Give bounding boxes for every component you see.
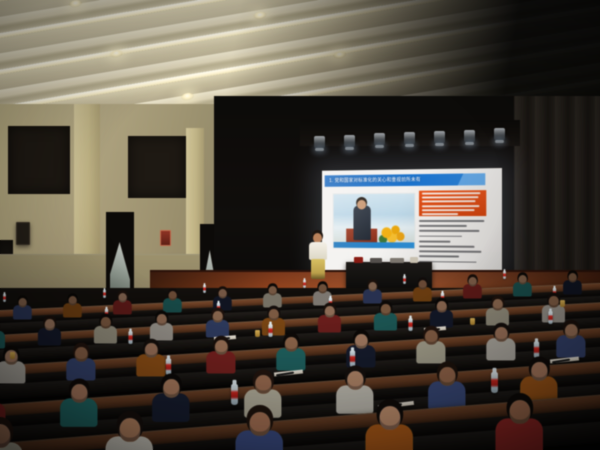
audience-torso — [0, 331, 5, 349]
audience-head — [71, 384, 88, 403]
table-object — [390, 258, 404, 263]
stage-spotlight — [464, 130, 475, 143]
conference-hall-photo: 1. 党和国家对标准化的关心和重视前所未有 — [0, 0, 600, 450]
presenter-torso — [309, 242, 327, 260]
table-object — [410, 257, 418, 263]
acoustic-panel — [128, 136, 186, 198]
stage-spotlight — [314, 136, 325, 149]
stage-spotlight — [404, 132, 415, 145]
audience-head — [439, 367, 456, 386]
body-text-line — [419, 240, 450, 242]
ceiling-downlight — [333, 50, 347, 59]
doorway-light — [110, 242, 130, 294]
audience-head — [355, 334, 368, 349]
body-text-line — [419, 235, 462, 237]
stage-spotlight — [374, 133, 385, 146]
audience-torso — [136, 355, 165, 377]
lighting-truss — [300, 120, 520, 146]
table-object — [354, 257, 363, 263]
audience-head — [319, 284, 327, 293]
audience-head — [425, 330, 438, 345]
audience-head — [493, 299, 503, 311]
slide-photo — [333, 193, 416, 250]
water-bottle — [403, 275, 406, 283]
tea-cup — [560, 300, 565, 307]
audience-torso — [416, 342, 445, 364]
body-text-line — [419, 230, 480, 232]
body-text-line — [419, 250, 481, 252]
audience-head — [509, 400, 530, 424]
audience-torso — [206, 351, 235, 373]
audience-head — [157, 314, 167, 326]
audience-head — [213, 311, 223, 323]
tea-cup — [470, 318, 475, 325]
water-bottle — [408, 318, 412, 331]
presenter-legs — [311, 259, 325, 279]
audience-head — [469, 277, 477, 286]
audience-head — [215, 340, 228, 355]
audience-torso — [38, 328, 61, 346]
callout-text-line — [422, 201, 476, 203]
photo-speaker-head — [357, 200, 366, 210]
callout-text-line — [422, 213, 459, 215]
audience-head — [249, 412, 270, 436]
audience-head — [145, 343, 158, 358]
stage-spotlight — [434, 131, 445, 144]
tea-cup — [255, 330, 260, 337]
slide-title-text: 1. 党和国家对标准化的关心和重视前所未有 — [329, 176, 421, 186]
audience-head — [565, 324, 578, 339]
audience-torso — [263, 294, 282, 308]
audience-head — [169, 291, 177, 300]
water-bottle — [534, 342, 540, 359]
slide-title-bar: 1. 党和国家对标准化的关心和重视前所未有 — [325, 173, 486, 187]
exit-sign — [160, 230, 171, 246]
audience-torso — [318, 315, 341, 333]
callout-text-line — [422, 205, 480, 207]
audience-torso — [152, 394, 189, 423]
table-object — [370, 258, 382, 263]
audience-torso — [486, 338, 515, 360]
audience-head — [119, 293, 127, 302]
audience-head — [19, 298, 27, 307]
audience-head — [437, 301, 447, 313]
photo-banner-strip — [334, 242, 415, 248]
water-bottle — [491, 372, 498, 393]
water-bottle — [503, 271, 506, 279]
callout-text-line — [422, 209, 475, 211]
audience-head — [569, 273, 577, 282]
wall-speaker — [16, 222, 30, 245]
water-bottle — [268, 324, 272, 337]
presenter-standing — [307, 233, 329, 279]
audience-head — [495, 327, 508, 342]
body-text-line — [419, 255, 459, 257]
audience-head — [531, 362, 548, 381]
water-bottle — [103, 289, 106, 297]
audience-head — [419, 280, 427, 289]
stage-spotlight — [344, 135, 355, 148]
audience-head — [255, 375, 272, 394]
audience-head — [101, 317, 111, 329]
tea-cup — [10, 352, 15, 359]
audience-head — [379, 406, 400, 430]
water-bottle — [303, 280, 306, 288]
callout-text-line — [422, 196, 478, 198]
stage-spotlight — [494, 128, 505, 141]
water-bottle — [548, 312, 552, 325]
audience-head — [381, 304, 391, 316]
water-bottle — [231, 384, 238, 405]
acoustic-panel — [8, 126, 70, 194]
audience-head — [347, 371, 364, 390]
audience-head — [75, 347, 88, 362]
body-text-line — [419, 225, 467, 227]
water-bottle — [3, 294, 6, 302]
audience-torso — [430, 310, 453, 328]
audience-torso — [463, 284, 482, 298]
water-bottle — [203, 285, 206, 293]
callout-text-line — [422, 192, 481, 194]
photo-speaker-body — [353, 206, 370, 241]
body-text-line — [419, 220, 484, 222]
audience-head — [369, 282, 377, 291]
audience-torso — [113, 301, 132, 315]
audience-head — [119, 418, 140, 442]
audience-head — [219, 289, 227, 298]
ceiling-downlight — [109, 49, 123, 58]
audience-head — [519, 275, 527, 284]
water-bottle — [166, 359, 172, 376]
audience-head — [69, 296, 77, 305]
audience-head — [163, 379, 180, 398]
audience-head — [45, 319, 55, 331]
body-text-line — [419, 245, 474, 247]
slide-callout-box — [419, 190, 486, 216]
audience-head — [285, 337, 298, 352]
water-bottle — [350, 350, 356, 367]
audience-head — [549, 296, 559, 308]
audience-head — [269, 309, 279, 321]
water-bottle — [128, 331, 132, 344]
slide-body-text — [419, 220, 488, 264]
audience-head — [325, 306, 335, 318]
